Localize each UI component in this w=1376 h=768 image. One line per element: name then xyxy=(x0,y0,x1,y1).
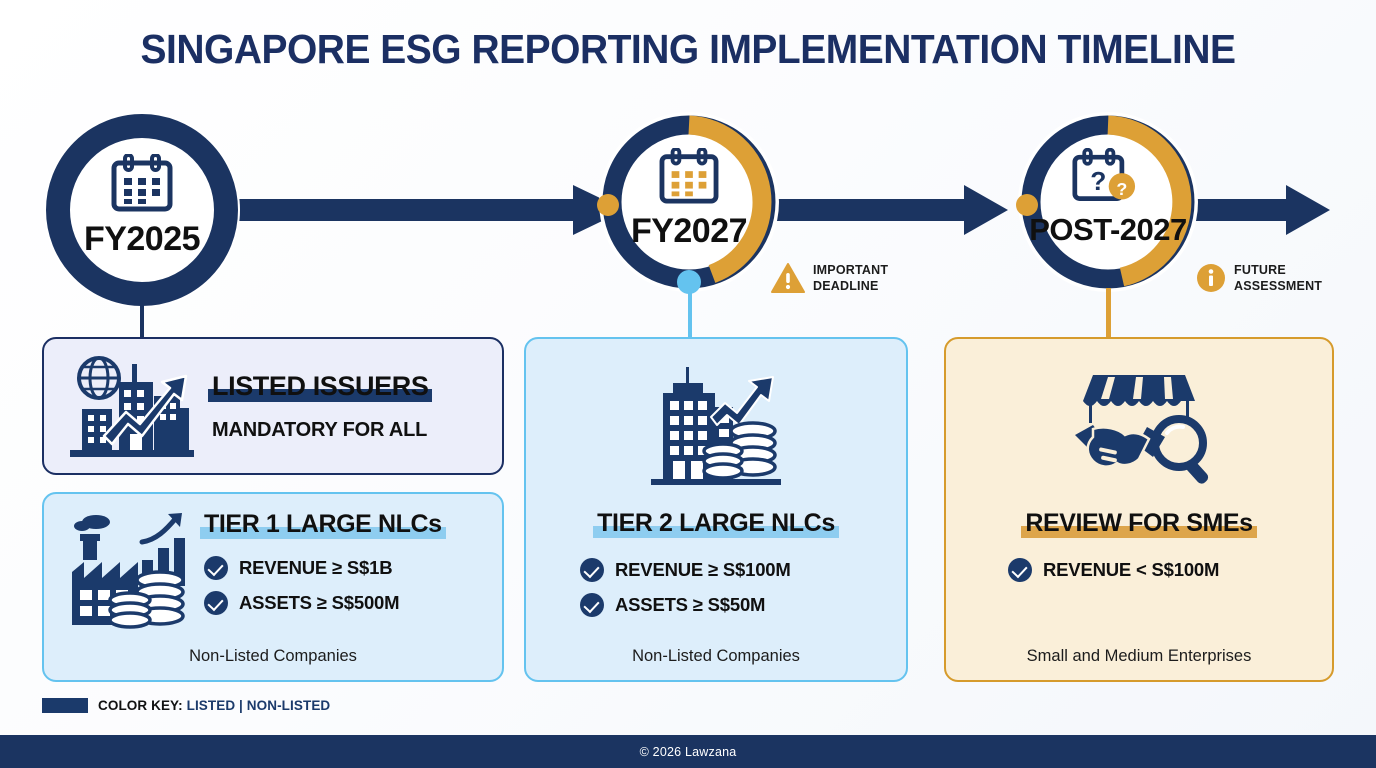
card-tier2-large-nlcs[interactable]: TIER 2 LARGE NLCs REVENUE ≥ S$100M ASSET… xyxy=(524,337,908,682)
connector-stem-fy2025 xyxy=(140,300,144,340)
card-tier1-large-nlcs[interactable]: TIER 1 LARGE NLCs REVENUE ≥ S$1B ASSETS … xyxy=(42,492,504,682)
footer-copyright: © 2026 Lawzana xyxy=(640,745,737,759)
card-note-sme: Small and Medium Enterprises xyxy=(946,647,1332,666)
footer-bar: © 2026 Lawzana xyxy=(0,735,1376,768)
svg-text:?: ? xyxy=(1090,166,1106,196)
color-key-swatch xyxy=(42,698,88,713)
card-note-tier1: Non-Listed Companies xyxy=(44,647,502,666)
arrow-fy2025-to-fy2027 xyxy=(205,185,625,235)
connector-stem-post2027 xyxy=(1106,288,1111,340)
node-label-fy2025: FY2025 xyxy=(44,220,240,259)
office-tower-coins-growth-icon xyxy=(641,367,791,485)
infographic-canvas: SINGAPORE ESG REPORTING IMPLEMENTATION T… xyxy=(0,0,1376,768)
timeline-section: FY2025 FY2027 xyxy=(0,0,1376,330)
badge-line-1: IMPORTANT xyxy=(813,262,888,278)
calendar-question-icon: ? ? xyxy=(1072,148,1136,204)
svg-text:?: ? xyxy=(1116,179,1127,199)
node-label-post2027: POST-2027 xyxy=(1018,212,1198,248)
color-key: COLOR KEY: LISTED | NON-LISTED xyxy=(42,698,330,713)
shop-handshake-magnifier-icon xyxy=(1063,367,1215,485)
card-note-tier2: Non-Listed Companies xyxy=(526,647,906,666)
badge-line-2: DEADLINE xyxy=(813,278,888,294)
badge-line-2: ASSESSMENT xyxy=(1234,278,1322,294)
card-title-sme: REVIEW FOR SMEs xyxy=(1025,509,1252,538)
card-review-for-smes[interactable]: REVIEW FOR SMEs REVENUE < S$100M Small a… xyxy=(944,337,1334,682)
check-circle-icon xyxy=(204,556,228,580)
card-listed-issuers[interactable]: LISTED ISSUERS MANDATORY FOR ALL xyxy=(42,337,504,475)
timeline-node-post2027[interactable]: ? ? POST-2027 xyxy=(1018,112,1198,292)
connector-stem-fy2027 xyxy=(688,288,692,340)
requirement-row: REVENUE ≥ S$1B xyxy=(204,556,442,580)
check-circle-icon xyxy=(1008,558,1032,582)
warning-triangle-icon xyxy=(771,262,805,294)
timeline-node-fy2025[interactable]: FY2025 xyxy=(44,112,240,308)
factory-coins-growth-icon xyxy=(64,510,196,635)
badge-important-deadline: IMPORTANT DEADLINE xyxy=(771,262,888,294)
check-circle-icon xyxy=(580,558,604,582)
badge-line-1: FUTURE xyxy=(1234,262,1322,278)
timeline-node-fy2027[interactable]: FY2027 xyxy=(599,112,779,292)
arrow-fy2027-to-post2027 xyxy=(768,185,1008,235)
card-title-tier1: TIER 1 LARGE NLCs xyxy=(204,510,442,539)
check-circle-icon xyxy=(204,591,228,615)
requirement-row: ASSETS ≥ S$50M xyxy=(580,593,906,617)
card-title-tier2: TIER 2 LARGE NLCs xyxy=(597,509,835,538)
requirement-row: ASSETS ≥ S$500M xyxy=(204,591,442,615)
calendar-icon xyxy=(111,154,173,212)
requirement-row: REVENUE < S$100M xyxy=(1008,558,1332,582)
card-title-listed: LISTED ISSUERS xyxy=(212,371,428,402)
calendar-amber-icon xyxy=(659,148,719,204)
requirement-row: REVENUE ≥ S$100M xyxy=(580,558,906,582)
info-circle-icon xyxy=(1196,263,1226,293)
check-circle-icon xyxy=(580,593,604,617)
badge-future-assessment: FUTURE ASSESSMENT xyxy=(1196,262,1322,294)
node-label-fy2027: FY2027 xyxy=(599,212,779,251)
color-key-label: COLOR KEY: xyxy=(98,698,183,713)
color-key-value: LISTED | NON-LISTED xyxy=(187,698,331,713)
globe-buildings-growth-icon xyxy=(66,354,198,458)
card-subtitle-listed: MANDATORY FOR ALL xyxy=(212,419,428,442)
